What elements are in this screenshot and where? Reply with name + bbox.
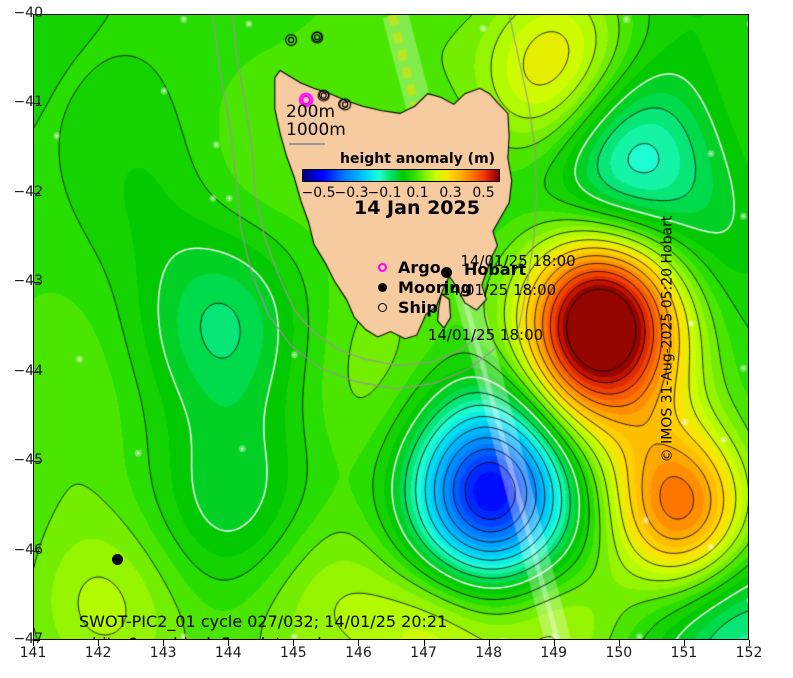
bathymetry-200m-label: 200m [286, 102, 335, 122]
mooring-dot-icon [372, 283, 392, 292]
bathymetry-1000m-label: 1000m [286, 120, 346, 140]
y-tick-label: −45 [13, 452, 43, 468]
caption-line-1: SWOT-PIC2_01 cycle 027/032; 14/01/25 20:… [79, 611, 447, 633]
y-tick-label: −40 [13, 5, 43, 21]
x-tick-label: 152 [736, 645, 763, 661]
y-tick-label: −46 [13, 542, 43, 558]
x-tick-label: 142 [85, 645, 112, 661]
argo-circle-icon [372, 263, 392, 272]
legend-item-argo: Argo [372, 258, 472, 277]
colorbar-title: height anomaly (m) [340, 151, 495, 167]
y-tick-label: −43 [13, 273, 43, 289]
y-tick-label: −44 [13, 363, 43, 379]
colorbar-tick-label: −0.5 [302, 185, 336, 201]
x-tick-label: 149 [540, 645, 567, 661]
platform-timestamp: 14/01/25 18:00 [441, 281, 556, 299]
platform-timestamp: 14/01/25 18:00 [460, 252, 575, 270]
x-tick-label: 150 [605, 645, 632, 661]
x-tick-label: 151 [671, 645, 698, 661]
x-tick-label: 145 [280, 645, 307, 661]
x-tick-label: 147 [410, 645, 437, 661]
bathymetry-line-sample [289, 143, 325, 145]
copyright-notice: © IMOS 31-Aug-2025 05:20 Hobart [660, 216, 676, 463]
swot-sea-surface-height-figure: 200m 1000m height anomaly (m) −0.5−0.3−0… [0, 0, 793, 678]
figure-date-label: 14 Jan 2025 [354, 197, 480, 219]
x-tick-label: 146 [345, 645, 372, 661]
x-tick-label: 143 [150, 645, 177, 661]
caption-line-2: white:0cm; black:5cm intervals [79, 633, 447, 640]
colorbar-gradient [302, 169, 500, 182]
x-tick-label: 141 [20, 645, 47, 661]
map-plot-area[interactable]: 200m 1000m height anomaly (m) −0.5−0.3−0… [33, 14, 749, 640]
x-tick-label: 148 [475, 645, 502, 661]
marker-mooring[interactable] [441, 267, 452, 278]
sea-surface-height-heatmap [34, 15, 749, 640]
y-tick-label: −41 [13, 94, 43, 110]
legend-label-ship: Ship [398, 298, 438, 317]
ship-circle-icon [372, 303, 392, 312]
y-tick-label: −42 [13, 184, 43, 200]
platform-timestamp: 14/01/25 18:00 [428, 326, 543, 344]
legend-label-argo: Argo [398, 258, 441, 277]
y-tick-label: −47 [13, 631, 43, 647]
figure-caption: SWOT-PIC2_01 cycle 027/032; 14/01/25 20:… [79, 611, 447, 640]
legend-item-ship: Ship [372, 298, 472, 317]
marker-argo[interactable] [301, 95, 311, 105]
x-tick-label: 144 [215, 645, 242, 661]
